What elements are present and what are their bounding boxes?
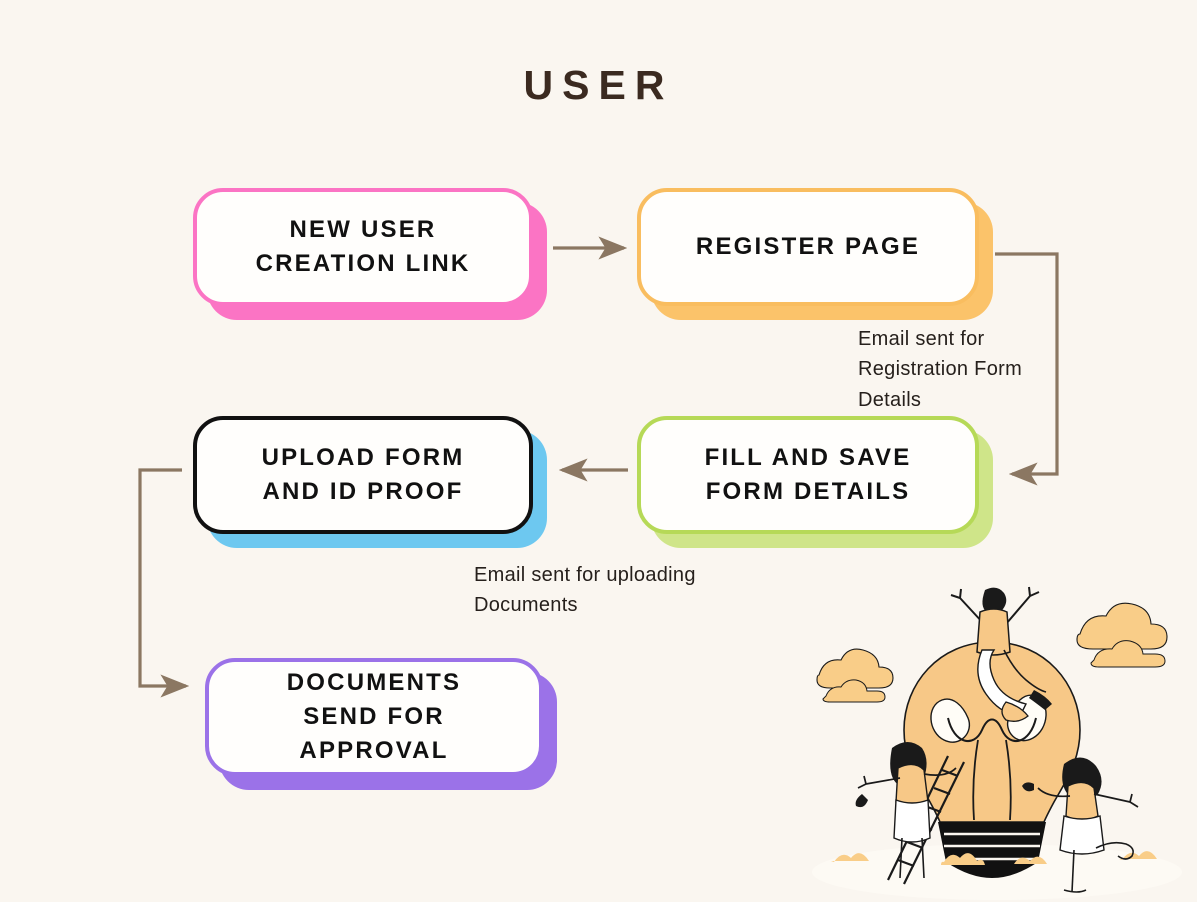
flow-node-label: FILL AND SAVE FORM DETAILS [693, 441, 924, 509]
annotation-uploading-documents: Email sent for uploading Documents [474, 560, 804, 621]
node-face: FILL AND SAVE FORM DETAILS [637, 416, 979, 534]
node-face: REGISTER PAGE [637, 188, 979, 306]
node-face: UPLOAD FORM AND ID PROOF [193, 416, 533, 534]
diagram-canvas: USER NEW USER CREATION LINK [0, 0, 1197, 902]
flow-node-label: UPLOAD FORM AND ID PROOF [250, 441, 477, 509]
annotation-registration-form-details: Email sent for Registration Form Details [858, 324, 1088, 415]
cloud-icon-right [1077, 603, 1167, 667]
lightbulb-teamwork-illustration [792, 572, 1192, 902]
cloud-icon-left [817, 649, 893, 702]
node-face: DOCUMENTS SEND FOR APPROVAL [205, 658, 543, 776]
flow-node-label: NEW USER CREATION LINK [244, 213, 483, 281]
flow-node-fill-and-save-form-details[interactable]: FILL AND SAVE FORM DETAILS [637, 416, 979, 534]
node-face: NEW USER CREATION LINK [193, 188, 533, 306]
edge-upload-to-documents [140, 470, 186, 686]
flow-node-register-page[interactable]: REGISTER PAGE [637, 188, 979, 306]
flow-node-documents-send-for-approval[interactable]: DOCUMENTS SEND FOR APPROVAL [205, 658, 543, 776]
flow-node-label: DOCUMENTS SEND FOR APPROVAL [275, 666, 473, 768]
flow-node-upload-form-and-id-proof[interactable]: UPLOAD FORM AND ID PROOF [193, 416, 533, 534]
flow-node-label: REGISTER PAGE [684, 230, 932, 264]
page-title: USER [0, 62, 1197, 109]
flow-node-new-user-creation-link[interactable]: NEW USER CREATION LINK [193, 188, 533, 306]
